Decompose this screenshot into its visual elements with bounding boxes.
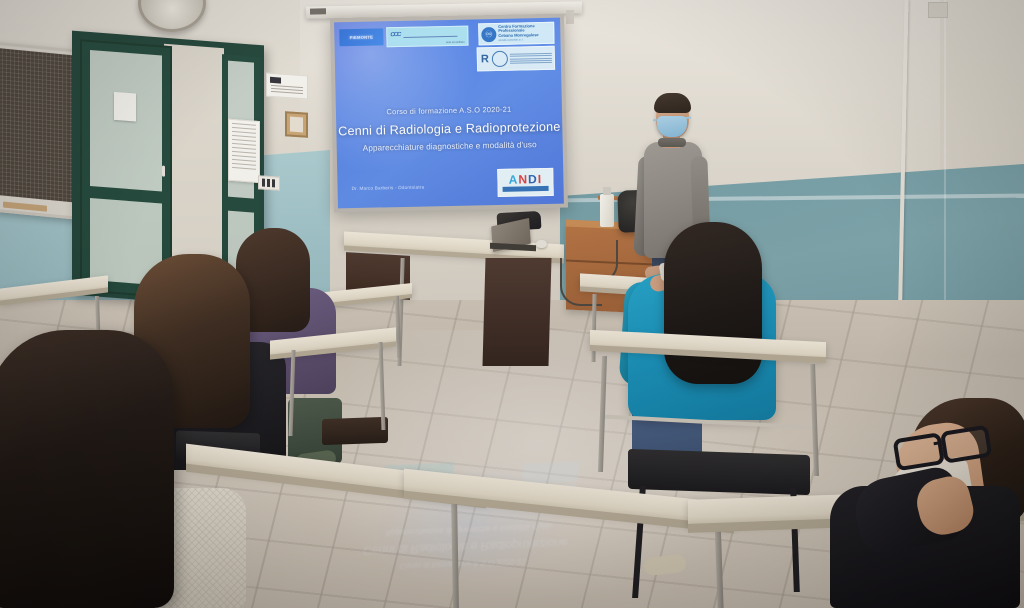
projector-screen-bracket: [566, 10, 574, 24]
blackboard-surface: [0, 48, 79, 203]
andi-logo-letters: ANDI: [509, 173, 543, 186]
chair[interactable]: [322, 417, 388, 445]
hand-sanitizer-bottle[interactable]: [600, 194, 614, 227]
door-notice-paper: [114, 92, 136, 122]
region-logo-text: PIEMONTE: [350, 35, 374, 40]
instructor-collar: [658, 138, 686, 147]
projector-screen: PIEMONTE CCC ente accreditato ♾ Centro F…: [330, 14, 568, 213]
wall-seam-secondary: [944, 0, 946, 300]
presentation-slide: PIEMONTE CCC ente accreditato ♾ Centro F…: [334, 18, 564, 209]
chair[interactable]: [628, 449, 810, 495]
teacher-desk-pedestal: [482, 258, 551, 366]
ccc-logo: CCC ente accreditato: [386, 26, 468, 48]
cfp-caption: società consortile a r.l.: [498, 38, 538, 43]
cfp-logo-text: Centro Formazione Professionale Cebano M…: [498, 24, 539, 43]
andi-logo: ANDI: [497, 168, 554, 197]
cfp-logo: ♾ Centro Formazione Professionale Cebano…: [478, 22, 554, 46]
light-switch[interactable]: [258, 175, 280, 191]
student-cream-sweater-hair: [0, 330, 174, 608]
chalk-tray: [3, 202, 47, 212]
door-leaf[interactable]: [80, 39, 172, 298]
instructor-hair: [654, 93, 691, 113]
ccc-logo-rule: [403, 36, 457, 38]
wall-notice-sign: [266, 73, 308, 100]
classroom-photo: PIEMONTE CCC ente accreditato ♾ Centro F…: [0, 0, 1024, 608]
door-poster: [228, 119, 260, 183]
door-handle[interactable]: [162, 166, 165, 177]
certification-letter: R: [481, 53, 489, 65]
fire-alarm-call-point[interactable]: [285, 111, 308, 138]
region-piemonte-logo: PIEMONTE: [339, 28, 383, 46]
ceiling-vent: [928, 2, 948, 18]
certification-logo: R: [477, 46, 555, 72]
ccc-logo-text: CCC: [390, 32, 400, 38]
slide-author: Dr. Marco Barberis - Odontoiatra: [352, 185, 425, 192]
computer-mouse[interactable]: [536, 240, 547, 248]
andi-logo-caption: [503, 186, 549, 192]
certification-text-lines: [508, 51, 554, 65]
student-teal-hair: [664, 222, 762, 384]
certification-ring-icon: [492, 51, 508, 67]
cfp-logo-mark: ♾: [481, 26, 496, 41]
ccc-logo-caption: ente accreditato: [446, 41, 465, 44]
